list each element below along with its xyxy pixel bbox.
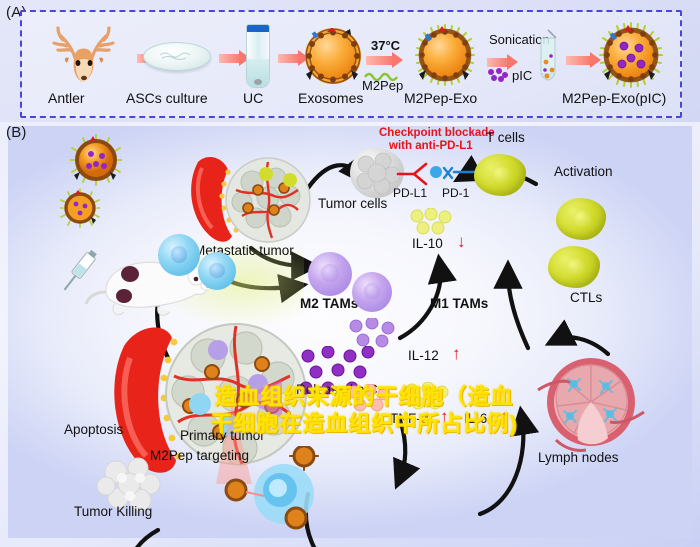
m2-tam-cell-1: [158, 234, 200, 276]
label-il-12: IL-12: [408, 348, 439, 363]
label-checkpoint-blockade-line2: with anti-PD-L1: [389, 140, 473, 152]
arrow-to-sonication-tube: [487, 58, 509, 67]
petri-dish-contents: [156, 48, 198, 62]
label-ascs-culture: ASCs culture: [126, 90, 208, 106]
label-m2pep-exo-pic: M2Pep-Exo(pIC): [562, 90, 666, 106]
il-10-down-arrow-icon: ↓: [457, 232, 466, 252]
ctl-cell-2: [548, 246, 600, 288]
label-ctls: CTLs: [570, 290, 602, 305]
label-tumor-killing: Tumor Killing: [74, 504, 152, 519]
il-12-up-arrow-icon: ↑: [452, 344, 461, 364]
label-uc: UC: [243, 90, 263, 106]
m2pep-targeting-illustration: [208, 446, 338, 530]
label-checkpoint-blockade: Checkpoint blockade: [379, 127, 495, 139]
injected-nanoparticle-large: [70, 134, 122, 186]
label-activation: Activation: [554, 164, 613, 179]
label-m2pep-exo: M2Pep-Exo: [404, 90, 477, 106]
label-pic: pIC: [512, 68, 532, 83]
label-pd-1: PD-1: [442, 186, 469, 200]
panel-a: (A) Antler: [0, 0, 700, 122]
label-temperature: 37°C: [371, 38, 400, 53]
label-tnf-alpha: TNF-α: [390, 411, 429, 426]
injected-nanoparticle-small: [60, 188, 100, 228]
il-10-cytokine-dots: [410, 208, 454, 236]
t-cell-1: [474, 154, 526, 196]
label-pd-l1: PD-L1: [393, 186, 427, 200]
il-6-cytokine-dots: [404, 382, 450, 412]
arrow-ascs-to-uc: [219, 54, 241, 63]
arrow-exosomes-to-m2pepexo: [366, 56, 394, 65]
panel-b-canvas: Metastatic tumor Tumor cells Checkpoint …: [8, 126, 692, 538]
ctl-cell-1: [556, 198, 606, 240]
label-t-cells: T cells: [486, 130, 525, 145]
centrifuge-tube-illustration: [246, 24, 270, 88]
m1-tam-cell-1: [308, 252, 352, 296]
pic-dots-icon: [487, 68, 509, 82]
il-6-up-arrow-icon: ↑: [500, 407, 509, 427]
label-tumor-cells: Tumor cells: [318, 196, 387, 211]
tnf-alpha-cytokine-dots: [346, 384, 392, 414]
arrow-to-m2pepexo-pic: [566, 56, 592, 65]
arrow-uc-to-exosomes: [278, 54, 300, 63]
lymph-node-illustration: [536, 354, 646, 454]
label-m2pep: M2Pep: [362, 78, 403, 93]
panel-b: Metastatic tumor Tumor cells Checkpoint …: [0, 122, 700, 547]
m1-tam-cell-2: [352, 272, 392, 312]
label-m1-tams: M1 TAMs: [430, 296, 488, 311]
label-apoptosis: Apoptosis: [64, 422, 123, 437]
m2pep-squiggle-icon: [364, 68, 400, 78]
label-antler: Antler: [48, 90, 85, 106]
figure-root: (A) Antler: [0, 0, 700, 547]
m2pep-exosome-pic-particle: [598, 22, 664, 88]
label-il-6: IL-6: [464, 411, 487, 426]
exosome-particle: [305, 28, 361, 84]
tube-pellet: [254, 79, 262, 85]
sonication-tube-illustration: [534, 26, 562, 88]
m2pep-exosome-particle: [414, 24, 476, 86]
label-lymph-nodes: Lymph nodes: [538, 450, 619, 465]
label-il-10: IL-10: [412, 236, 443, 251]
metastatic-tumor-illustration: [184, 150, 312, 250]
label-exosomes: Exosomes: [298, 90, 363, 106]
panel-b-tag: (B): [6, 124, 27, 141]
antler-deer-illustration: [45, 22, 135, 84]
label-primary-tumor: Primary tumor: [180, 428, 265, 443]
m2-tam-cell-2: [198, 252, 236, 290]
tube-cap: [247, 25, 269, 32]
